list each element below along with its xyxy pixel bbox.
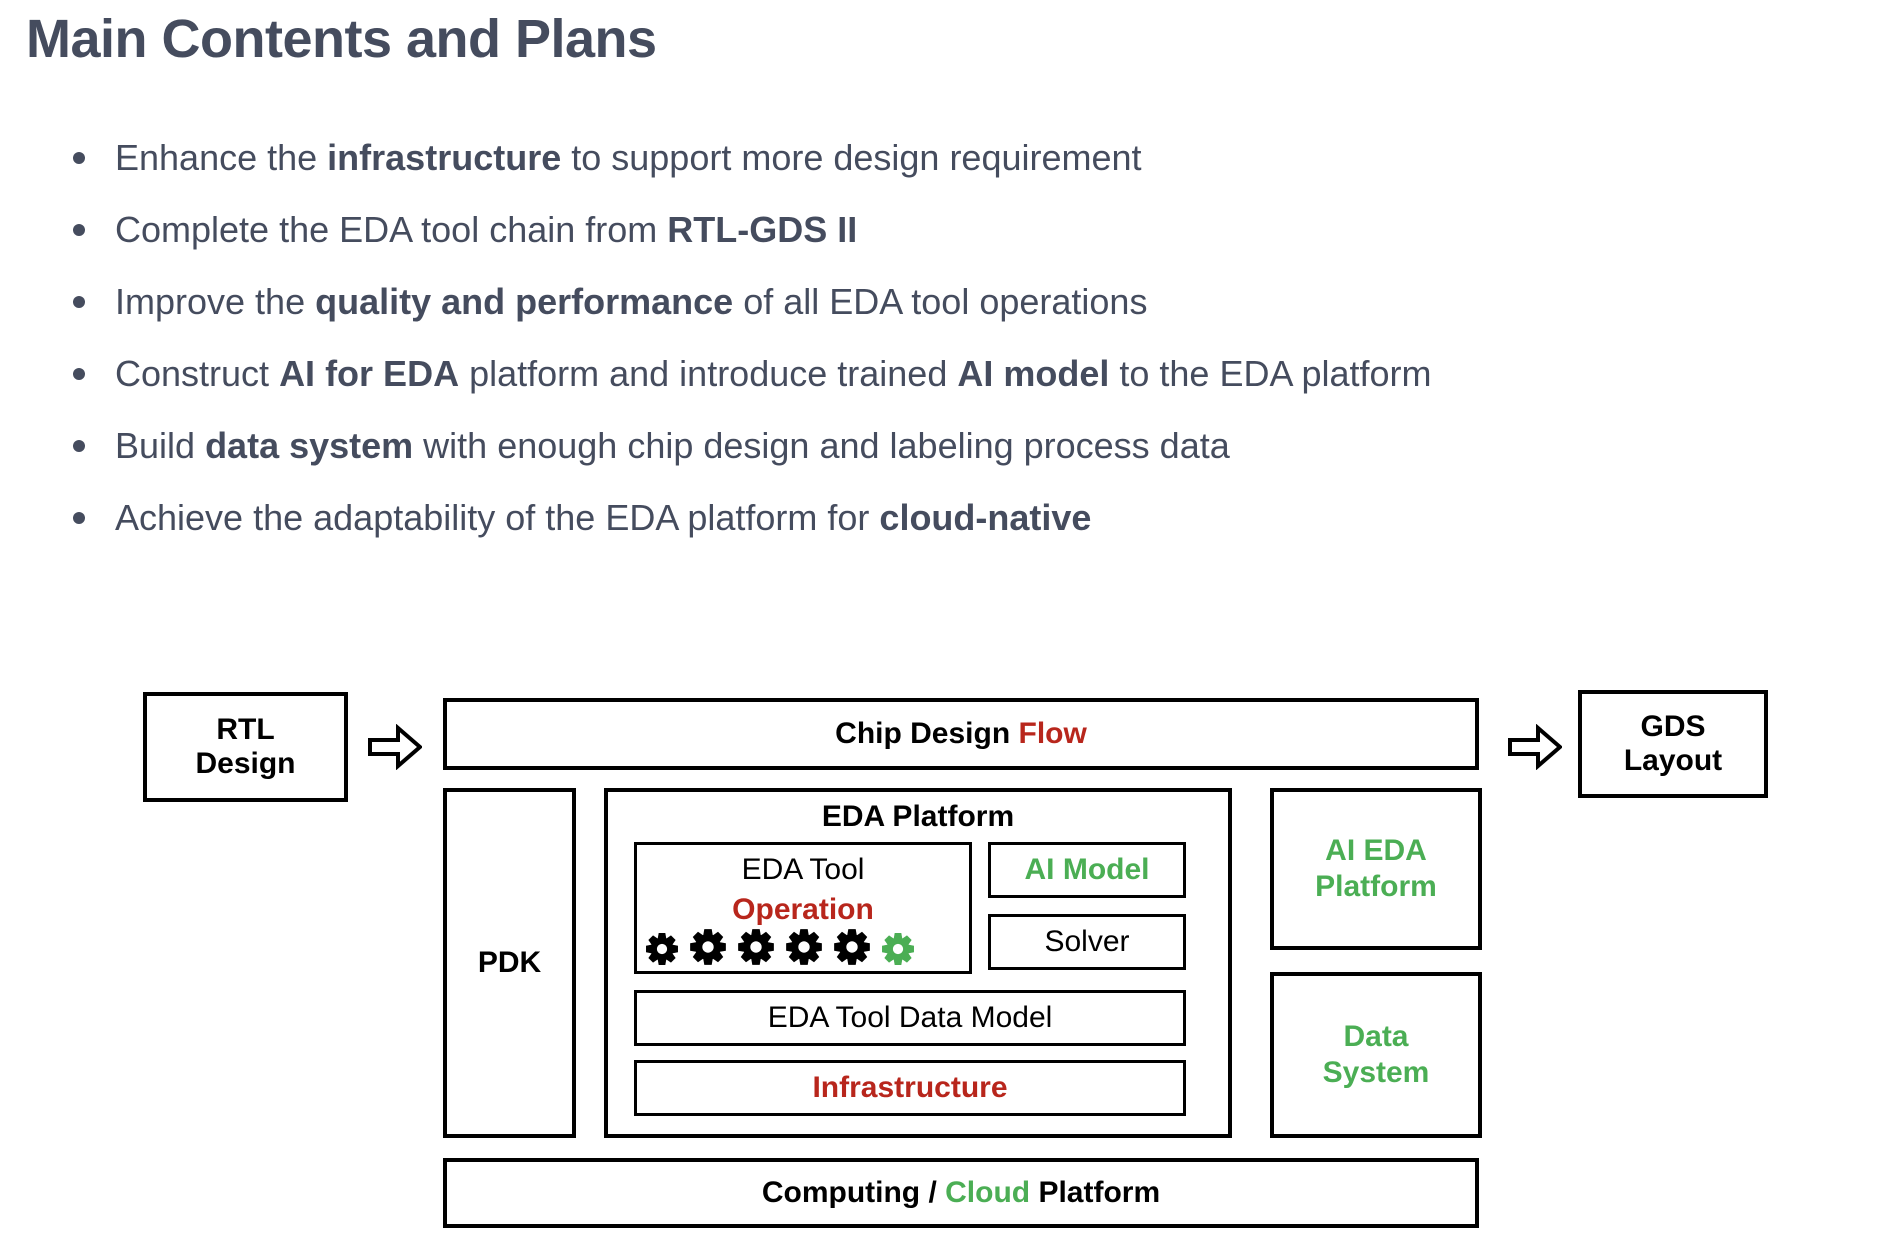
gear-icon-ai xyxy=(881,932,915,966)
eda-tool-operation-box[interactable]: EDA Tool Operation xyxy=(634,842,972,974)
bullet-item: Achieve the adaptability of the EDA plat… xyxy=(60,482,1880,554)
data-system-line2: System xyxy=(1323,1056,1430,1089)
bullet-plain: to the EDA platform xyxy=(1109,353,1431,394)
bullet-item: Build data system with enough chip desig… xyxy=(60,410,1880,482)
bullet-plain: Construct xyxy=(115,353,279,394)
bullet-plain: Complete the EDA tool chain from xyxy=(115,209,667,250)
gear-icon-2 xyxy=(689,928,727,966)
bullet-item: Construct AI for EDA platform and introd… xyxy=(60,338,1880,410)
eda-platform-box[interactable]: EDA Platform EDA Tool Operation AI Model… xyxy=(604,788,1232,1138)
bullet-emphasis: quality and performance xyxy=(315,281,733,322)
chip-design-flow-prefix: Chip Design xyxy=(835,717,1018,750)
bullet-emphasis: cloud-native xyxy=(879,497,1091,538)
bullet-text: Build data system with enough chip desig… xyxy=(115,425,1230,466)
gds-layout-line1: GDS xyxy=(1640,710,1705,743)
bullet-plain: Achieve the adaptability of the EDA plat… xyxy=(115,497,879,538)
eda-platform-title: EDA Platform xyxy=(608,800,1228,834)
right-block-arrow-icon-out xyxy=(1508,724,1562,770)
solver-label: Solver xyxy=(1044,925,1129,959)
bullet-dot-icon xyxy=(73,224,85,236)
ai-eda-platform-line2: Platform xyxy=(1315,870,1437,903)
bullet-emphasis: infrastructure xyxy=(327,137,561,178)
eda-tool-data-model-label: EDA Tool Data Model xyxy=(768,1001,1053,1035)
computing-cloud-platform-bar[interactable]: Computing / Cloud Platform xyxy=(443,1158,1479,1228)
eda-architecture-diagram: RTL Design Chip Design Flow GDS Layout P… xyxy=(0,680,1890,1260)
ai-eda-platform-line1: AI EDA xyxy=(1325,834,1427,867)
bullet-dot-icon xyxy=(73,296,85,308)
bullet-plain: with enough chip design and labeling pro… xyxy=(413,425,1230,466)
right-block-arrow-icon-in xyxy=(368,724,422,770)
bullet-emphasis: RTL-GDS II xyxy=(667,209,857,250)
data-system-line1: Data xyxy=(1343,1020,1408,1053)
pdk-label: PDK xyxy=(478,946,541,980)
bullet-item: Enhance the infrastructure to support mo… xyxy=(60,122,1880,194)
bullet-item: Complete the EDA tool chain from RTL-GDS… xyxy=(60,194,1880,266)
chip-design-flow-highlight: Flow xyxy=(1019,717,1087,750)
gear-row xyxy=(645,928,915,966)
computing-platform-prefix: Computing / xyxy=(762,1176,945,1209)
eda-tool-data-model-box[interactable]: EDA Tool Data Model xyxy=(634,990,1186,1046)
gear-icon-5 xyxy=(833,928,871,966)
data-system-box[interactable]: Data System xyxy=(1270,972,1482,1138)
bullet-text: Construct AI for EDA platform and introd… xyxy=(115,353,1432,394)
bullet-plain: of all EDA tool operations xyxy=(733,281,1147,322)
ai-model-box[interactable]: AI Model xyxy=(988,842,1186,898)
gear-icon-1 xyxy=(645,932,679,966)
eda-tool-label: EDA Tool xyxy=(637,853,969,887)
gear-icon-3 xyxy=(737,928,775,966)
rtl-design-line2: Design xyxy=(195,747,295,780)
bullet-text: Complete the EDA tool chain from RTL-GDS… xyxy=(115,209,857,250)
bullet-text: Improve the quality and performance of a… xyxy=(115,281,1147,322)
bullet-plain: platform and introduce trained xyxy=(459,353,957,394)
bullet-text: Enhance the infrastructure to support mo… xyxy=(115,137,1142,178)
rtl-design-box[interactable]: RTL Design xyxy=(143,692,348,802)
bullet-plain: to support more design requirement xyxy=(561,137,1141,178)
bullet-dot-icon xyxy=(73,440,85,452)
computing-platform-suffix: Platform xyxy=(1030,1176,1160,1209)
bullet-text: Achieve the adaptability of the EDA plat… xyxy=(115,497,1091,538)
page-title: Main Contents and Plans xyxy=(26,8,657,70)
bullet-emphasis: data system xyxy=(205,425,413,466)
bullet-emphasis: AI model xyxy=(957,353,1109,394)
infrastructure-label: Infrastructure xyxy=(812,1071,1007,1105)
gds-layout-box[interactable]: GDS Layout xyxy=(1578,690,1768,798)
bullet-plain: Build xyxy=(115,425,205,466)
bullet-plain: Enhance the xyxy=(115,137,327,178)
solver-box[interactable]: Solver xyxy=(988,914,1186,970)
operation-label: Operation xyxy=(637,893,969,927)
gds-layout-line2: Layout xyxy=(1624,744,1722,777)
bullet-dot-icon xyxy=(73,368,85,380)
infrastructure-box[interactable]: Infrastructure xyxy=(634,1060,1186,1116)
pdk-box[interactable]: PDK xyxy=(443,788,576,1138)
bullet-emphasis: AI for EDA xyxy=(279,353,459,394)
computing-platform-highlight: Cloud xyxy=(945,1176,1030,1209)
chip-design-flow-bar[interactable]: Chip Design Flow xyxy=(443,698,1479,770)
bullet-dot-icon xyxy=(73,152,85,164)
bullet-item: Improve the quality and performance of a… xyxy=(60,266,1880,338)
bullet-plain: Improve the xyxy=(115,281,315,322)
bullet-list: Enhance the infrastructure to support mo… xyxy=(60,122,1880,554)
ai-eda-platform-box[interactable]: AI EDA Platform xyxy=(1270,788,1482,950)
ai-model-label: AI Model xyxy=(1025,853,1150,887)
gear-icon-4 xyxy=(785,928,823,966)
bullet-dot-icon xyxy=(73,512,85,524)
rtl-design-line1: RTL xyxy=(216,713,274,746)
